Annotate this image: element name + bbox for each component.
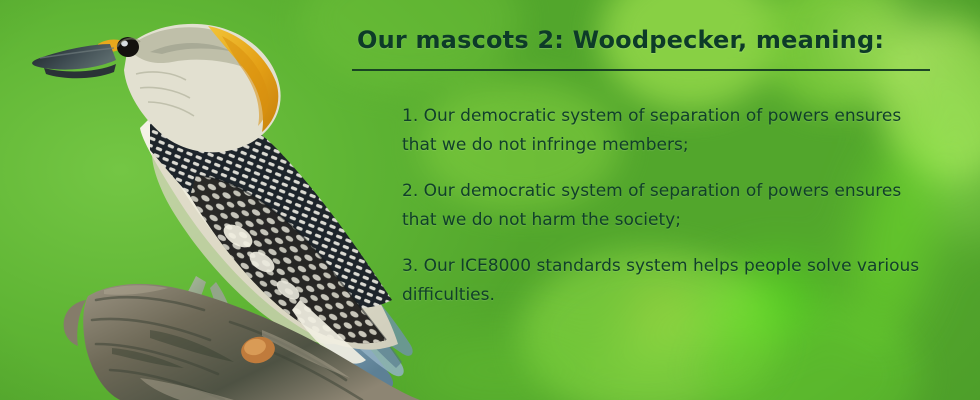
page-title: Our mascots 2: Woodpecker, meaning: <box>357 26 884 54</box>
mascot-meaning-list: 1. Our democratic system of separation o… <box>402 85 937 310</box>
list-item: 3. Our ICE8000 standards system helps pe… <box>402 252 937 310</box>
list-item: 1. Our democratic system of separation o… <box>402 102 937 160</box>
branch-stub <box>64 300 86 346</box>
title-divider <box>352 69 930 71</box>
list-item: 2. Our democratic system of separation o… <box>402 177 937 235</box>
mascot-banner: Our mascots 2: Woodpecker, meaning: 1. O… <box>0 0 980 400</box>
text-panel: Our mascots 2: Woodpecker, meaning: 1. O… <box>350 0 950 400</box>
